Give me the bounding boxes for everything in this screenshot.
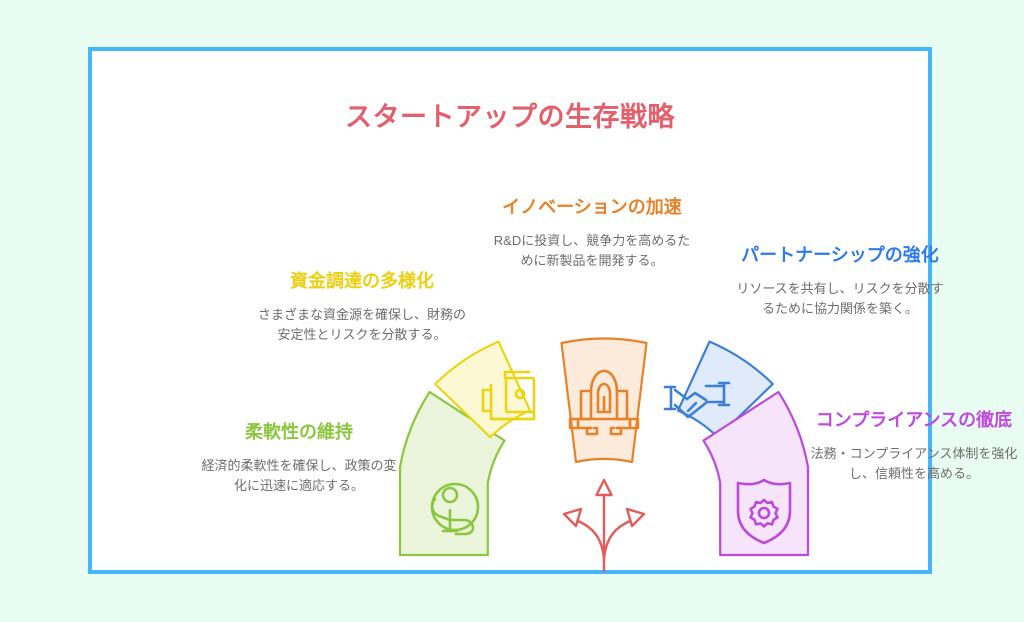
segment-label-description: 法務・コンプライアンス体制を強化し、信頼性を高める。 [808,444,1020,485]
three-way-arrow-icon [564,480,644,571]
segment-label-partnership: パートナーシップの強化 リソースを共有し、リスクを分散するために協力関係を築く。 [734,244,946,320]
segment-label-description: リソースを共有し、リスクを分散するために協力関係を築く。 [734,279,946,320]
segment-label-description: 経済的柔軟性を確保し、政策の変化に迅速に適応する。 [196,456,402,497]
segment-label-title: 資金調達の多様化 [258,270,466,294]
segment-label-description: R&Dに投資し、競争力を高めるために新製品を開発する。 [488,231,696,272]
segment-label-flexibility: 柔軟性の維持 経済的柔軟性を確保し、政策の変化に迅速に適応する。 [196,421,402,497]
slide-canvas: スタートアップの生存戦略 柔軟性の維持 経済的柔軟性を確保し、政策の変化に迅速に… [0,0,1024,622]
fan-diagram [388,339,820,571]
segment-label-title: パートナーシップの強化 [734,244,946,268]
page-title: スタートアップの生存戦略 [92,95,928,134]
segment-label-title: イノベーションの加速 [488,196,696,220]
segment-label-funding: 資金調達の多様化 さまざまな資金源を確保し、財務の安定性とリスクを分散する。 [258,270,466,346]
content-card: スタートアップの生存戦略 柔軟性の維持 経済的柔軟性を確保し、政策の変化に迅速に… [88,47,932,574]
fan-segment-innovation[interactable] [562,339,647,462]
segment-label-title: コンプライアンスの徹底 [808,409,1020,433]
segment-label-compliance: コンプライアンスの徹底 法務・コンプライアンス体制を強化し、信頼性を高める。 [808,409,1020,485]
segment-label-title: 柔軟性の維持 [196,421,402,445]
segment-label-innovation: イノベーションの加速 R&Dに投資し、競争力を高めるために新製品を開発する。 [488,196,696,272]
